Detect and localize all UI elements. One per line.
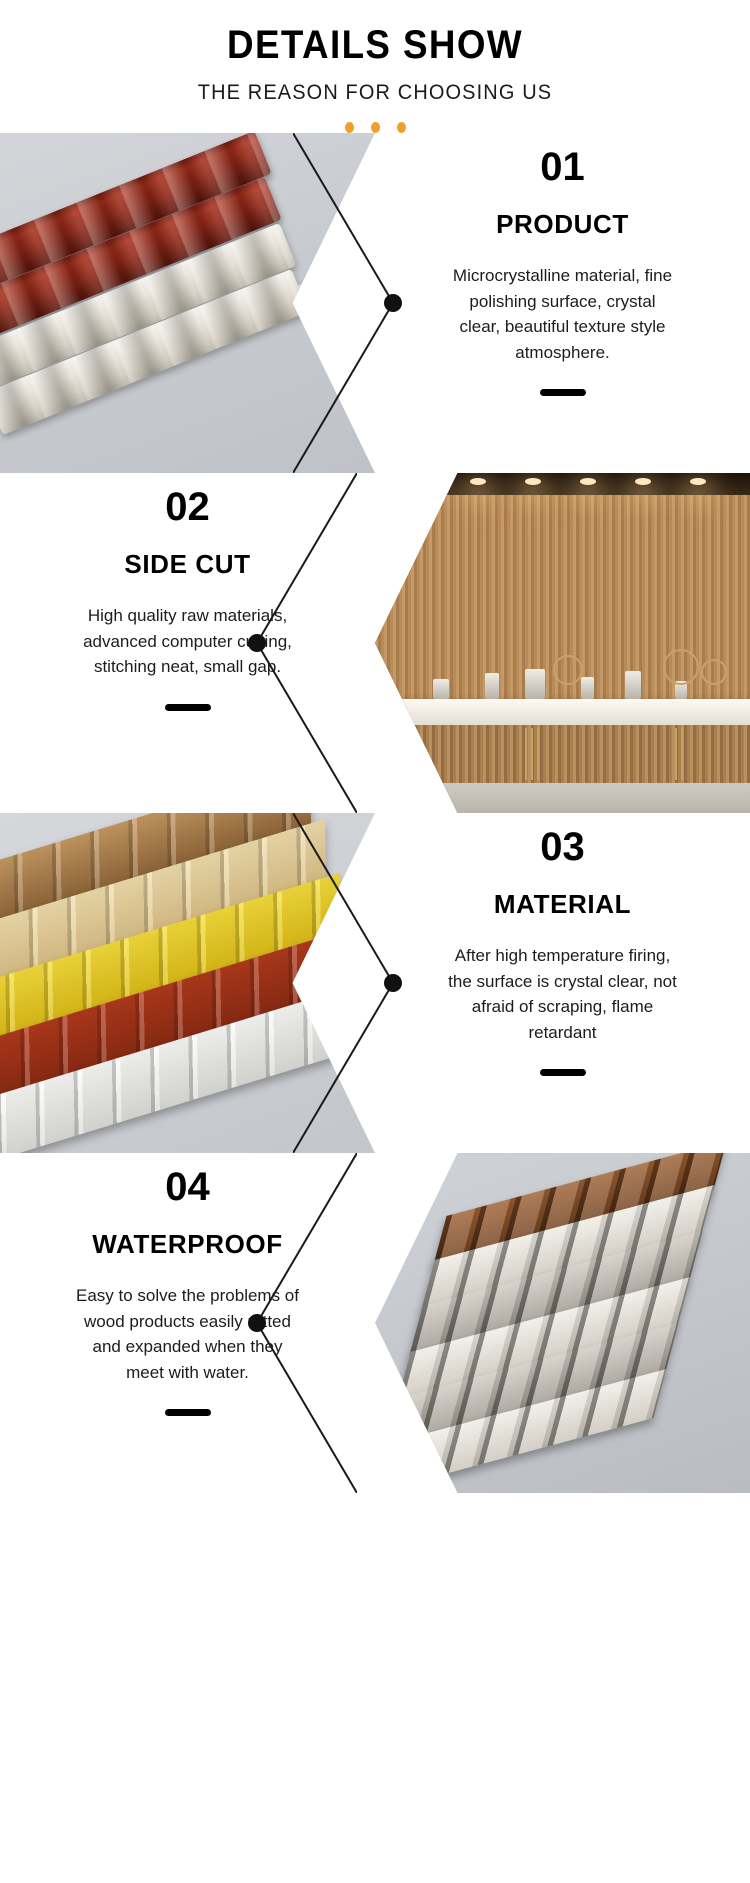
feature-heading: PRODUCT [496,209,629,240]
feature-number: 03 [540,827,585,867]
feature-heading: WATERPROOF [92,1229,282,1260]
feature-heading: MATERIAL [494,889,631,920]
material-colour-boards-photo [0,813,375,1153]
feature-text-03: 03 MATERIAL After high temperature firin… [375,813,750,1153]
photo-canvas [375,1153,750,1493]
feature-text-04: 04 WATERPROOF Easy to solve the problems… [0,1153,375,1493]
waterproof-tubes-photo [375,1153,750,1493]
feature-divider-dash [540,389,586,396]
feature-number: 01 [540,147,585,187]
feature-body: High quality raw materials, advanced com… [73,603,303,680]
dot-icon [345,122,354,133]
feature-section-02: 02 SIDE CUT High quality raw materials, … [0,473,750,813]
feature-divider-dash [540,1069,586,1076]
feature-body: Easy to solve the problems of wood produ… [73,1283,303,1385]
feature-divider-dash [165,704,211,711]
feature-text-02: 02 SIDE CUT High quality raw materials, … [0,473,375,813]
feature-body: Microcrystalline material, fine polishin… [448,263,678,365]
photo-canvas [0,133,375,473]
feature-section-03: 03 MATERIAL After high temperature firin… [0,813,750,1153]
dot-icon [371,122,380,133]
photo-canvas [0,813,375,1153]
feature-body: After high temperature firing, the surfa… [448,943,678,1045]
photo-canvas [375,473,750,813]
page-subtitle: THE REASON FOR CHOOSING US [19,81,732,105]
page-header: DETAILS SHOW THE REASON FOR CHOOSING US [0,0,750,133]
decorative-dots [0,122,750,133]
feature-section-01: 01 PRODUCT Microcrystalline material, fi… [0,133,750,473]
feature-number: 02 [165,487,210,527]
feature-section-04: 04 WATERPROOF Easy to solve the problems… [0,1153,750,1493]
dot-icon [397,122,406,133]
side-cut-interior-photo [375,473,750,813]
feature-text-01: 01 PRODUCT Microcrystalline material, fi… [375,133,750,473]
feature-heading: SIDE CUT [124,549,250,580]
page-title: DETAILS SHOW [30,22,720,68]
feature-number: 04 [165,1167,210,1207]
feature-divider-dash [165,1409,211,1416]
product-mouldings-photo [0,133,375,473]
